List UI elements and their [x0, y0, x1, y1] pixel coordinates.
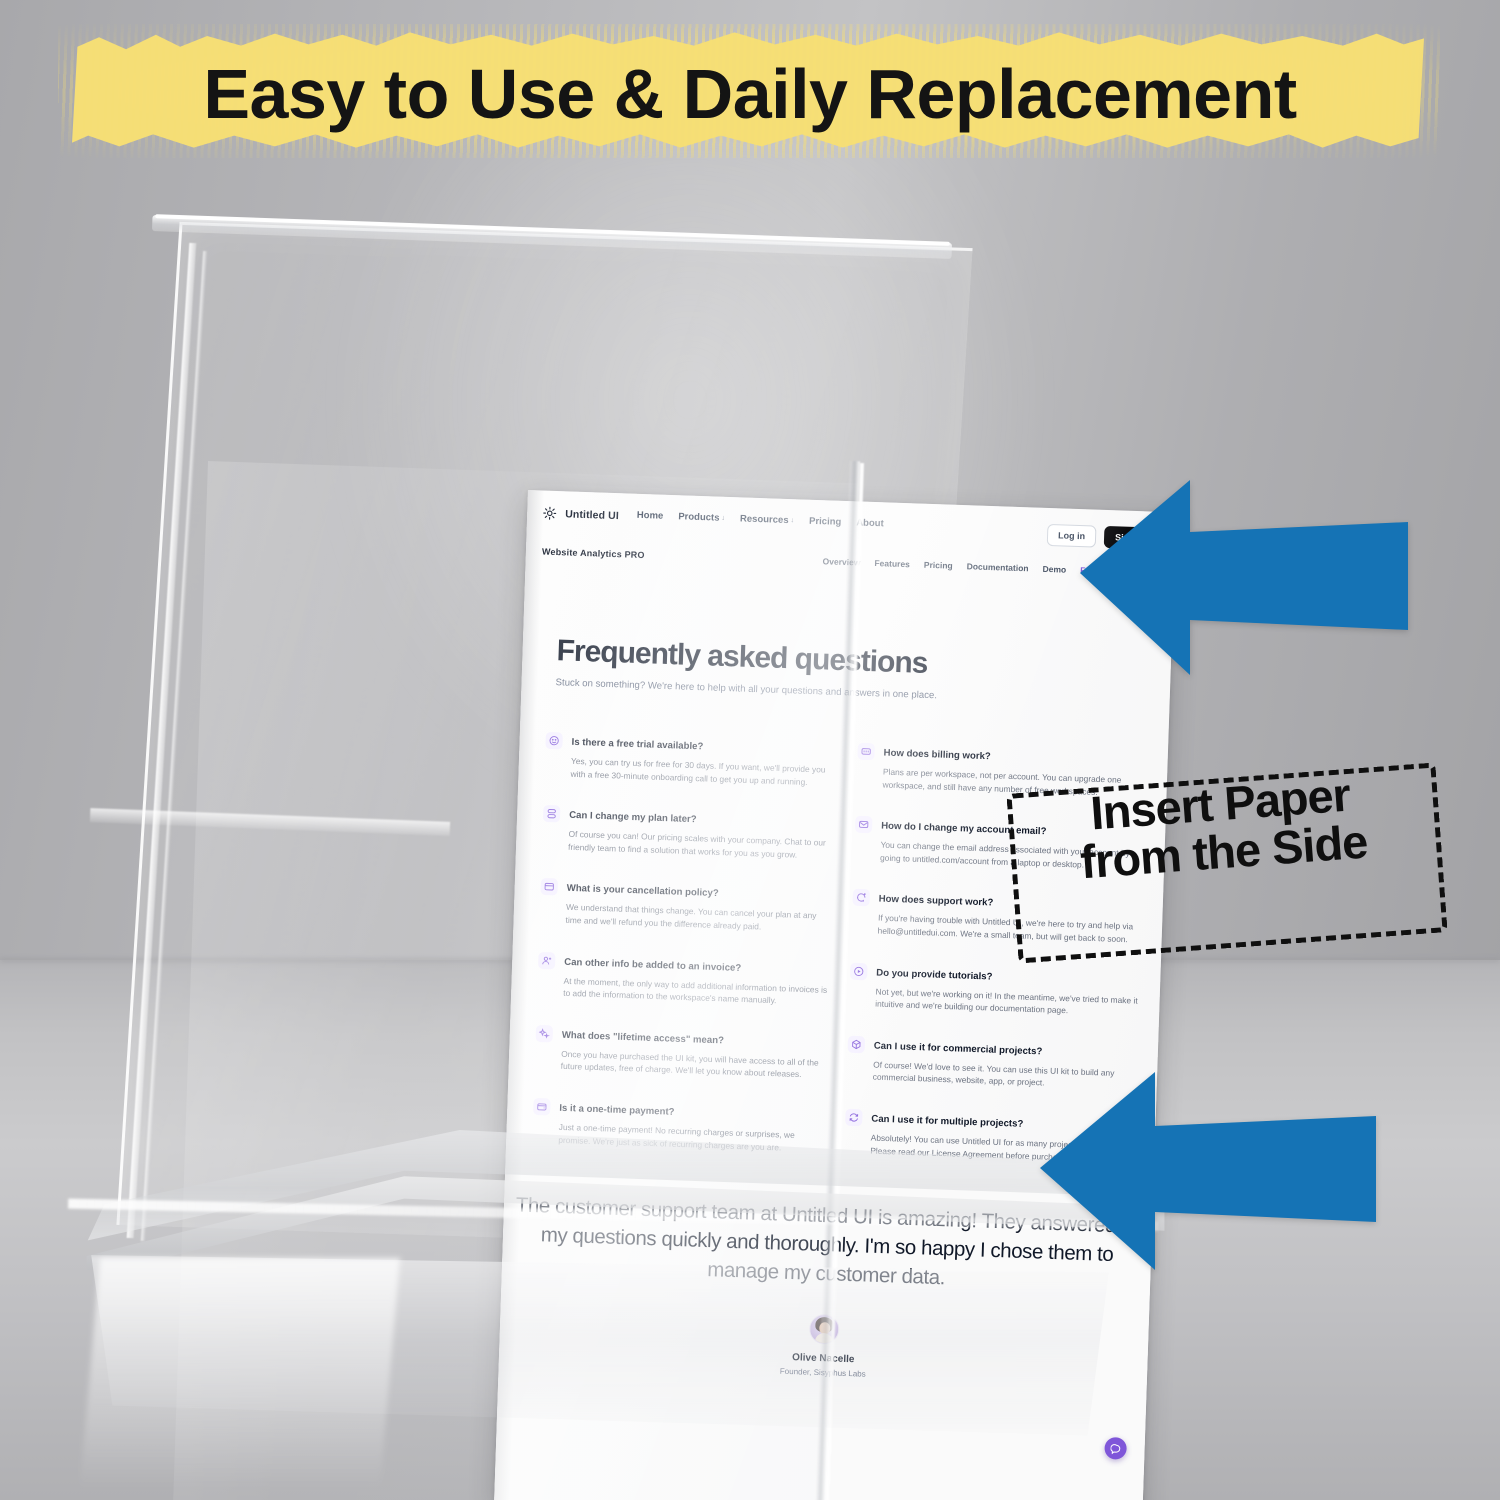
faq-question: How does support work?: [879, 894, 994, 909]
wallet-icon: [533, 1098, 551, 1116]
faq-question: Can I use it for multiple projects?: [871, 1114, 1023, 1130]
play-icon: [850, 962, 868, 980]
chevron-down-icon: ↓: [790, 517, 794, 524]
mail-icon: [855, 816, 873, 834]
sparkle-icon: [536, 1025, 554, 1043]
support-icon: [852, 889, 870, 907]
subnav-item-pricing[interactable]: Pricing: [924, 560, 953, 571]
credit-card-icon: [540, 878, 558, 896]
box-icon: [848, 1036, 866, 1054]
subnav-item-features[interactable]: Features: [874, 558, 910, 569]
primary-nav: Home Products↓ Resources↓ Pricing About: [637, 510, 884, 530]
headline-banner: Easy to Use & Daily Replacement: [0, 14, 1500, 164]
faq-item[interactable]: Is there a free trial available?Yes, you…: [544, 731, 840, 789]
faq-column-left: Is there a free trial available?Yes, you…: [532, 731, 840, 1155]
faq-answer: We understand that things change. You ca…: [565, 901, 834, 935]
page-title: Frequently asked questions: [556, 636, 1147, 686]
faq-question: How does billing work?: [883, 748, 991, 763]
acrylic-sign-holder: Untitled UI Home Products↓ Resources↓ Pr…: [60, 225, 1160, 1300]
arrow-lower: [1040, 1060, 1380, 1275]
brand[interactable]: Untitled UI: [543, 507, 619, 523]
user-plus-icon: [538, 952, 556, 970]
brand-name: Untitled UI: [565, 508, 619, 522]
subnav-item-documentation[interactable]: Documentation: [967, 561, 1029, 573]
faq-question: Can other info be added to an invoice?: [564, 956, 741, 973]
faq-item[interactable]: Can other info be added to an invoice?At…: [537, 951, 833, 1009]
faq-question: Can I change my plan later?: [569, 810, 697, 825]
smiley-icon: [545, 732, 563, 750]
faq-item[interactable]: Do you provide tutorials?Not yet, but we…: [849, 961, 1145, 1019]
refresh-icon: [845, 1109, 863, 1127]
arrow-upper: [1080, 470, 1410, 680]
nav-item-products[interactable]: Products↓: [678, 511, 725, 524]
subnav-item-overview[interactable]: Overview: [822, 556, 860, 567]
faq-question: Is it a one-time payment?: [559, 1103, 675, 1118]
subnav-item-demo[interactable]: Demo: [1042, 564, 1066, 575]
product-name: Website Analytics PRO: [542, 547, 645, 561]
nav-item-pricing[interactable]: Pricing: [809, 516, 842, 528]
faq-answer: Once you have purchased the UI kit, you …: [561, 1048, 830, 1082]
faq-answer: Yes, you can try us for free for 30 days…: [570, 755, 839, 789]
faq-answer: Of course you can! Our pricing scales wi…: [568, 828, 837, 862]
faq-item[interactable]: What does "lifetime access" mean?Once yo…: [535, 1024, 831, 1082]
faq-heading-block: Frequently asked questions Stuck on some…: [555, 636, 1147, 710]
faq-question: Do you provide tutorials?: [876, 967, 993, 982]
faq-question: Can I use it for commercial projects?: [874, 1040, 1043, 1057]
nav-item-resources[interactable]: Resources↓: [740, 513, 794, 526]
faq-answer: Not yet, but we're working on it! In the…: [875, 985, 1144, 1019]
chevron-down-icon: ↓: [721, 515, 725, 522]
faq-question: Is there a free trial available?: [571, 737, 703, 753]
faq-answer: At the moment, the only way to add addit…: [563, 974, 832, 1008]
chat-bubble-icon: [1110, 1443, 1121, 1454]
nav-item-about[interactable]: About: [856, 517, 884, 529]
untitled-ui-logo-icon: [543, 507, 556, 520]
faq-question: What is your cancellation policy?: [567, 883, 719, 899]
layers-icon: [543, 805, 561, 823]
faq-item[interactable]: Can I change my plan later?Of course you…: [542, 804, 838, 862]
product-infographic: Easy to Use & Daily Replacement: [0, 0, 1500, 1500]
faq-question: What does "lifetime access" mean?: [562, 1030, 724, 1047]
headline-text: Easy to Use & Daily Replacement: [0, 54, 1500, 134]
billing-icon: [857, 743, 875, 761]
desk-reflection-highlight: [80, 1258, 400, 1488]
nav-item-home[interactable]: Home: [637, 510, 664, 522]
faq-item[interactable]: What is your cancellation policy?We unde…: [539, 877, 835, 935]
